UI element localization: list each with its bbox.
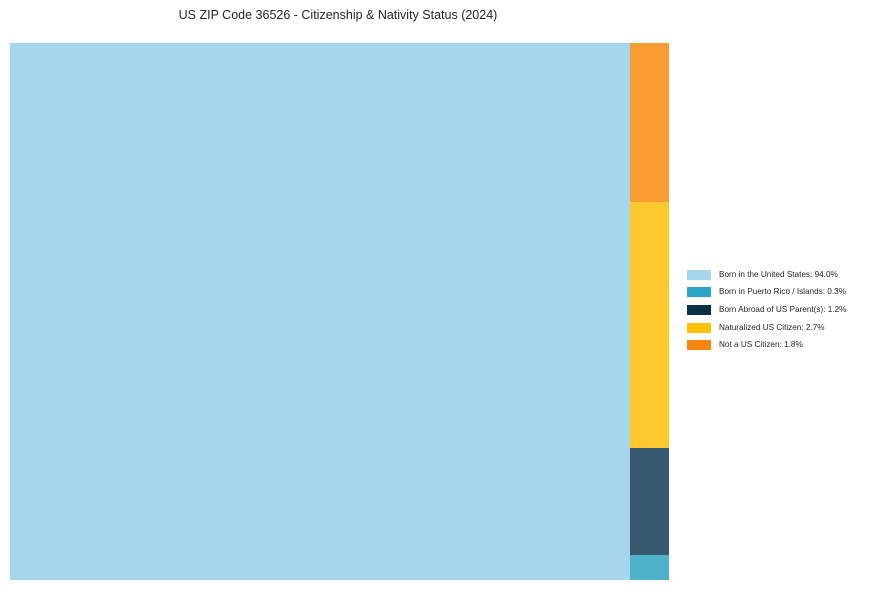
legend-item[interactable]: Not a US Citizen: 1.8%	[687, 336, 882, 354]
legend-item[interactable]: Born Abroad of US Parent(s): 1.2%	[687, 301, 882, 319]
treemap-tile[interactable]	[630, 43, 669, 202]
legend-swatch-icon	[687, 287, 711, 297]
treemap-tile[interactable]	[10, 43, 630, 580]
chart-legend: Born in the United States: 94.0%Born in …	[687, 266, 882, 354]
chart-title: US ZIP Code 36526 - Citizenship & Nativi…	[0, 8, 676, 22]
legend-label: Born Abroad of US Parent(s): 1.2%	[719, 305, 846, 315]
legend-label: Born in the United States: 94.0%	[719, 270, 838, 280]
treemap-figure: US ZIP Code 36526 - Citizenship & Nativi…	[0, 0, 889, 590]
legend-swatch-icon	[687, 270, 711, 280]
legend-item[interactable]: Naturalized US Citizen: 2.7%	[687, 319, 882, 337]
treemap-plot-area	[10, 43, 669, 580]
legend-item[interactable]: Born in the United States: 94.0%	[687, 266, 882, 284]
legend-swatch-icon	[687, 305, 711, 315]
legend-swatch-icon	[687, 340, 711, 350]
legend-swatch-icon	[687, 323, 711, 333]
legend-label: Naturalized US Citizen: 2.7%	[719, 323, 825, 333]
treemap-tile[interactable]	[630, 555, 669, 580]
legend-item[interactable]: Born in Puerto Rico / Islands: 0.3%	[687, 284, 882, 302]
treemap-tile[interactable]	[630, 202, 669, 448]
legend-label: Not a US Citizen: 1.8%	[719, 340, 803, 350]
treemap-tile[interactable]	[630, 448, 669, 555]
legend-label: Born in Puerto Rico / Islands: 0.3%	[719, 287, 846, 297]
